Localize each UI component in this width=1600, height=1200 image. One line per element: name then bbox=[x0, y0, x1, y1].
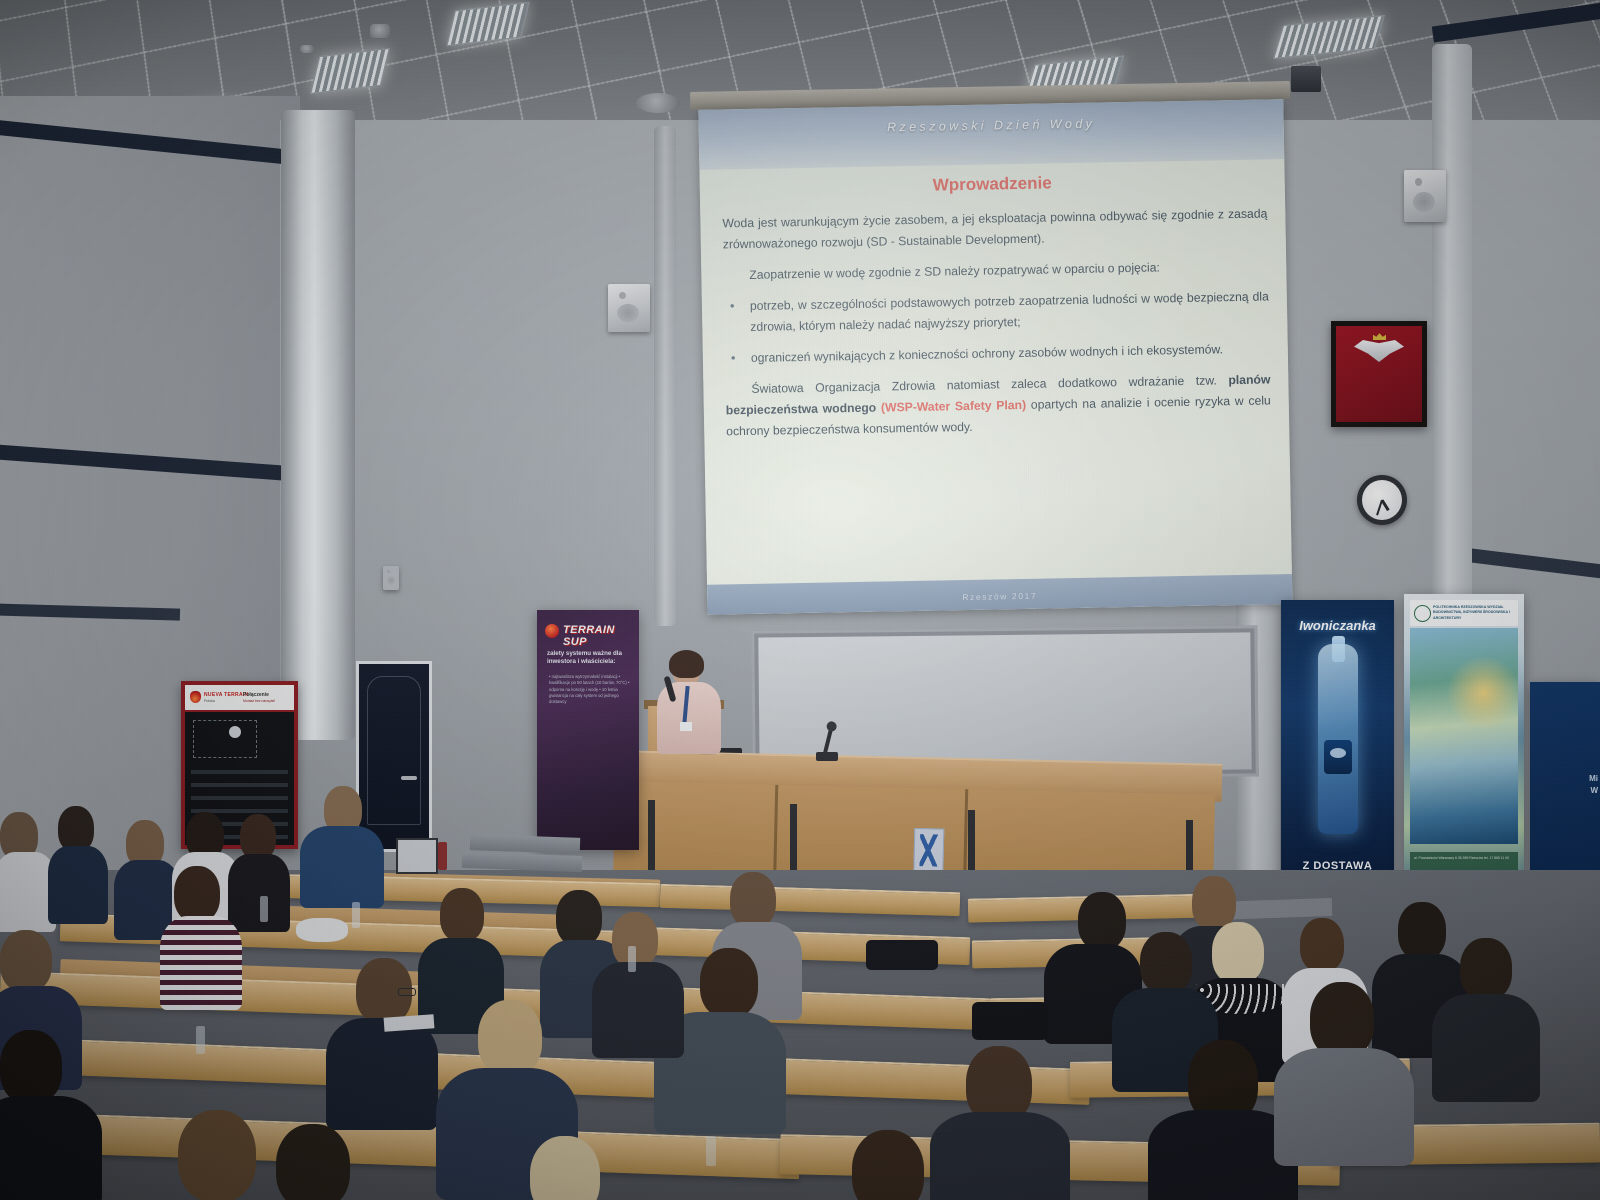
water-bottle bbox=[196, 1026, 205, 1054]
audience-body bbox=[300, 826, 384, 908]
water-bottle bbox=[706, 1136, 716, 1166]
crown-icon bbox=[1373, 332, 1386, 340]
wall-panel-small bbox=[383, 566, 399, 590]
audience-body bbox=[1432, 994, 1540, 1102]
audience-head bbox=[1398, 902, 1446, 960]
poster-footer-text: al. Powstańców Warszawy 6 35-959 Rzeszów… bbox=[1414, 856, 1509, 861]
audience-head bbox=[530, 1136, 600, 1200]
audience-head bbox=[1300, 918, 1344, 972]
presenter-hair bbox=[669, 650, 704, 678]
slide-paragraph-2: Zaopatrzenie w wodę zgodnie z SD należy … bbox=[723, 255, 1268, 286]
structural-column bbox=[281, 110, 355, 740]
slide-title: Wprowadzenie bbox=[700, 169, 1285, 200]
audience-head bbox=[0, 930, 52, 992]
projection-screen: Rzeszowski Dzień Wody Wprowadzenie Woda … bbox=[690, 81, 1300, 632]
audience-body bbox=[326, 1018, 438, 1130]
lecture-hall-door[interactable] bbox=[356, 661, 432, 852]
water-bottle bbox=[438, 842, 447, 870]
wall-speaker bbox=[1404, 170, 1446, 222]
water-bottle bbox=[628, 946, 636, 972]
iwoniczanka-banner: Iwoniczanka Z DOSTAWĄ DO DOMU I FIRMY ww… bbox=[1281, 600, 1394, 910]
presenter-badge bbox=[680, 722, 692, 731]
audience-body bbox=[592, 962, 684, 1058]
poster-header-text: POLITECHNIKA RZESZOWSKA WYDZIAŁ BUDOWNIC… bbox=[1433, 605, 1518, 621]
water-bottle-image bbox=[1318, 644, 1358, 834]
terrain-brand: TERRAIN SUP bbox=[563, 624, 639, 648]
slide-p3-part-a: Światowa Organizacja Zdrowia natomiast z… bbox=[751, 373, 1228, 396]
audience-head bbox=[1212, 922, 1264, 984]
panel-header: NUEVA TERRAIN Polska Połączenie Montaż b… bbox=[185, 685, 294, 710]
terrain-bullets: • najtwardsza wytrzymałość instalacji • … bbox=[549, 674, 633, 705]
eagle-icon bbox=[1354, 340, 1404, 362]
iwoniczanka-brand: Iwoniczanka bbox=[1281, 618, 1394, 633]
slide-paragraph-3: Światowa Organizacja Zdrowia natomiast z… bbox=[725, 369, 1271, 442]
audience-body bbox=[228, 854, 290, 932]
audience-head bbox=[1078, 892, 1126, 950]
audience-head bbox=[700, 948, 758, 1018]
audience-body bbox=[48, 846, 108, 924]
eyeglasses-icon bbox=[398, 988, 416, 996]
wall-speaker bbox=[608, 284, 650, 332]
lecture-hall-photo: Rzeszowski Dzień Wody Wprowadzenie Woda … bbox=[0, 0, 1600, 1200]
slide-p3-emphasis: (WSP-Water Safety Plan) bbox=[881, 398, 1026, 415]
slide-surface: Rzeszowski Dzień Wody Wprowadzenie Woda … bbox=[698, 99, 1292, 615]
slide-bullet-1: potrzeb, w szczególności podstawowych po… bbox=[724, 286, 1270, 338]
panel-diagram bbox=[193, 720, 257, 758]
audience-body bbox=[0, 1096, 102, 1200]
tablet-screen bbox=[396, 838, 438, 874]
right-banner-line1: Mi bbox=[1589, 774, 1598, 783]
ceiling-air-diffuser bbox=[636, 93, 680, 113]
panel-slogan: Połączenie bbox=[243, 692, 269, 698]
door-handle[interactable] bbox=[401, 776, 417, 780]
audience-head bbox=[556, 890, 602, 946]
laptop-bag bbox=[866, 940, 938, 970]
audience-head bbox=[276, 1124, 350, 1200]
panel-country: Polska bbox=[204, 699, 215, 703]
university-poster-banner: POLITECHNIKA RZESZOWSKA WYDZIAŁ BUDOWNIC… bbox=[1404, 594, 1524, 916]
wall-clock bbox=[1357, 475, 1407, 525]
water-bottle bbox=[260, 896, 268, 922]
audience-head bbox=[1460, 938, 1512, 1000]
microphone-base bbox=[816, 752, 838, 761]
emblem-red-field bbox=[1336, 326, 1422, 422]
structural-column bbox=[1432, 44, 1472, 604]
door-panel bbox=[367, 676, 421, 825]
audience-head bbox=[178, 1110, 256, 1200]
audience-head bbox=[730, 872, 776, 928]
bottle-label bbox=[1324, 740, 1352, 774]
university-logo-plate bbox=[913, 828, 944, 873]
projector-mount bbox=[1291, 66, 1321, 92]
audience-head bbox=[478, 1000, 542, 1076]
audience-head bbox=[174, 866, 220, 922]
audience-body bbox=[160, 916, 242, 1010]
clock-face bbox=[1362, 480, 1402, 520]
smoke-detector bbox=[300, 45, 314, 53]
handbag bbox=[972, 1002, 1048, 1040]
slide-bullet-2: ograniczeń wynikających z konieczności o… bbox=[725, 338, 1270, 369]
ceiling-vent bbox=[370, 24, 390, 38]
audience-head bbox=[0, 1030, 62, 1104]
folded-jacket bbox=[296, 918, 348, 942]
poster-illustration bbox=[1410, 628, 1518, 844]
slide-body: Woda jest warunkującym życie zasobem, a … bbox=[722, 203, 1271, 452]
panel-diagram-node bbox=[229, 726, 241, 738]
terrain-sup-banner: TERRAIN SUP zalety systemu ważne dla inw… bbox=[537, 610, 639, 850]
audience-head bbox=[1310, 982, 1374, 1058]
wall-corner-edge bbox=[654, 126, 676, 626]
audience-head bbox=[1140, 932, 1192, 994]
poster-header: POLITECHNIKA RZESZOWSKA WYDZIAŁ BUDOWNIC… bbox=[1410, 600, 1518, 626]
audience-body bbox=[930, 1112, 1070, 1200]
water-bottle bbox=[352, 902, 360, 928]
right-banner-line2: W bbox=[1590, 786, 1598, 795]
flame-icon bbox=[190, 691, 201, 703]
panel-slogan-sub: Montaż bez narzędzi! bbox=[243, 699, 275, 703]
audience-head bbox=[852, 1130, 924, 1200]
panel-brand: NUEVA TERRAIN bbox=[204, 692, 248, 698]
clock-minute-hand bbox=[1376, 500, 1383, 516]
terrain-logo-icon bbox=[545, 624, 559, 638]
slide-paragraph-1: Woda jest warunkującym życie zasobem, a … bbox=[722, 203, 1268, 255]
audience-body bbox=[1274, 1048, 1414, 1166]
terrain-headline: zalety systemu ważne dla inwestora i wła… bbox=[547, 650, 633, 667]
polish-eagle-emblem bbox=[1331, 321, 1427, 427]
audience-head bbox=[440, 888, 484, 942]
